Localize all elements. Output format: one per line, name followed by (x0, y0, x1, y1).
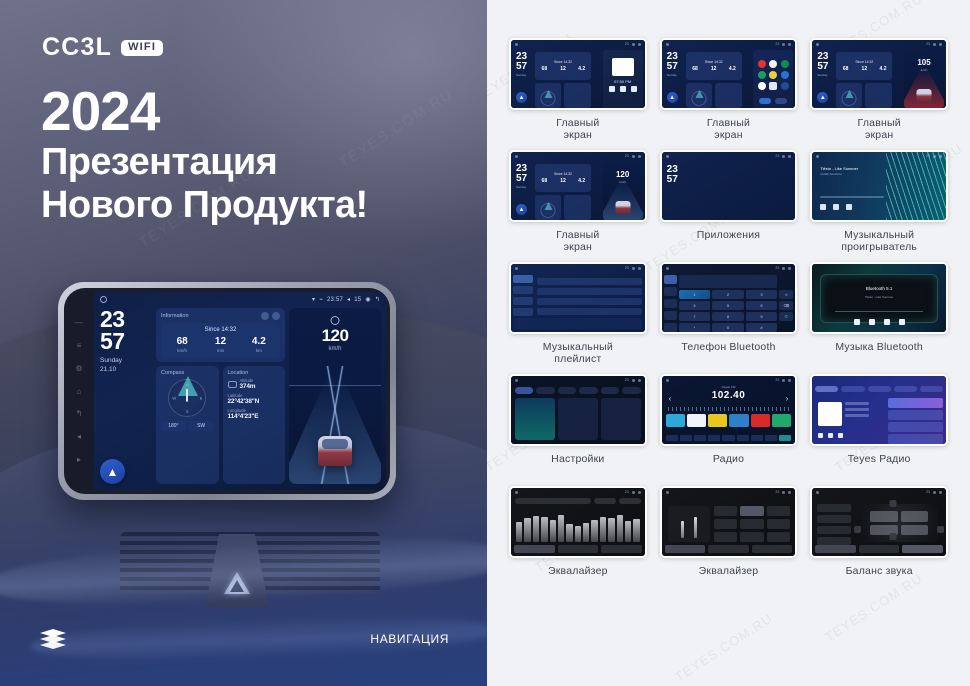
refresh-icon[interactable] (261, 312, 269, 320)
latitude-row: Latitude 22°42'38"N (228, 393, 281, 405)
screenshot-thumbnail[interactable]: 23 2357Sunday Since 14:32 68124.2 (509, 38, 647, 110)
tab-display (558, 387, 576, 394)
app-icon (758, 71, 766, 79)
search-icon (664, 299, 677, 308)
equalizer-presets[interactable] (515, 498, 641, 504)
compass-direction: SW (189, 421, 214, 431)
home-icon (515, 43, 518, 46)
tab-eq (514, 545, 555, 553)
playback-controls[interactable] (820, 204, 852, 210)
logo-wifi-badge: WIFI (121, 40, 163, 56)
balance-right-button[interactable] (937, 526, 944, 533)
mini-driving-view: 105 km/h (904, 50, 944, 108)
gallery-caption: Главныйэкран (858, 117, 901, 142)
gallery-caption: Баланс звука (846, 565, 913, 590)
call-log-icon (664, 311, 677, 320)
balance-presets[interactable] (817, 504, 851, 548)
next-station-icon[interactable]: › (786, 394, 789, 403)
gallery-item[interactable]: 23 123 456 789 *0# ☆⌫✆ Т (660, 262, 798, 366)
clock-hours: 23 (100, 308, 152, 330)
stat-unit: km/h (163, 348, 201, 353)
compass-needle (186, 389, 188, 402)
trip-stats: 68 km/h 12 min 4.2 (163, 336, 278, 353)
dial-key: 6 (746, 301, 778, 310)
gallery-item[interactable]: 23 2357 (660, 150, 798, 254)
dual-sliders[interactable] (668, 506, 710, 542)
headline-year: 2024 (41, 84, 368, 139)
gallery-caption: Главныйэкран (707, 117, 750, 142)
screenshot-thumbnail[interactable]: 23 Tiësto - Like Summer Collab Sessions (810, 150, 948, 222)
bluetooth-card: Bluetooth 5.1 Tiësto - Like Summer (820, 274, 938, 323)
mini-clock: 2357Sunday (516, 52, 527, 78)
home-button[interactable]: ⌂ (75, 387, 84, 396)
bluetooth-track: Tiësto - Like Summer (821, 295, 937, 300)
gallery-item[interactable]: 23 Радио FM 102.40 ‹ › (660, 374, 798, 478)
gallery-caption: Эквалайзер (548, 565, 608, 590)
gallery-item[interactable]: 23 Эквалайзер (660, 486, 798, 590)
mini-location-card (564, 83, 591, 108)
gallery-item[interactable]: Teyes Радио (810, 374, 948, 478)
station-list[interactable] (888, 398, 943, 446)
gear-icon[interactable]: ◉ (365, 296, 370, 303)
tab-wifi (515, 387, 533, 394)
dial-key: 3 (746, 290, 778, 299)
gallery-caption: Teyes Радио (848, 453, 911, 478)
track-meta (845, 402, 869, 420)
app-grid[interactable] (684, 163, 793, 171)
screenshot-thumbnail[interactable]: 23 (509, 374, 647, 446)
app-icon (758, 60, 766, 68)
gallery-grid: 23 2357Sunday Since 14:32 68124.2 (509, 38, 948, 590)
balance-pad[interactable] (860, 504, 938, 542)
information-body: Since 14:32 68 km/h 12 min (161, 323, 280, 358)
bluetooth-name: Bluetooth 5.1 (821, 286, 937, 291)
equalizer-sliders[interactable] (516, 506, 640, 542)
play-store-icon (758, 82, 766, 90)
screenshot-thumbnail[interactable]: Bluetooth 5.1 Tiësto - Like Summer (810, 262, 948, 334)
mini-driving-view: 120 km/h (603, 162, 643, 220)
prev-icon (854, 319, 860, 325)
app-icon (769, 60, 777, 68)
prev-icon (818, 433, 823, 438)
phone-sidebar[interactable] (664, 275, 677, 329)
gear-icon (632, 43, 635, 46)
speed-limit-icon (331, 316, 340, 325)
mini-compass-card (535, 83, 561, 108)
settings-tabs[interactable] (515, 387, 641, 394)
preset (729, 414, 748, 427)
lower-widgets-row: Compass N E S W (156, 366, 285, 484)
screenshot-thumbnail[interactable]: 23 (660, 486, 798, 558)
back-arrow-icon (638, 43, 641, 46)
gallery-item[interactable]: 23 Баланс звука (810, 486, 948, 590)
compass-dial: N E S W (168, 379, 206, 417)
location-card[interactable]: Location Altitude 374m (223, 366, 286, 484)
stat-unit: min (201, 348, 239, 353)
radio-toolbar[interactable] (666, 435, 792, 441)
tab-eq (665, 545, 706, 553)
gallery-caption: Эквалайзер (699, 565, 759, 590)
playback-controls[interactable] (818, 433, 843, 438)
bluetooth-music-mini: Bluetooth 5.1 Tiësto - Like Summer (812, 264, 946, 332)
gallery-caption: Музыка Bluetooth (835, 341, 923, 366)
speaker-fr (901, 511, 928, 522)
gallery-item[interactable]: 23 2357Sunday Since 14:3268124.2 120 km/… (509, 150, 647, 254)
mini-app-shortcuts (753, 50, 793, 108)
head-unit-frame: — ≡ ⚙ ⌂ ↰ ◂ ▸ ▾ ⌁ 23:57 ◂ (64, 288, 390, 494)
tab-balance (708, 545, 749, 553)
compass-east-label: E (200, 396, 203, 401)
navigation-arrow-icon: ▲ (516, 92, 527, 103)
information-card-header: Information (161, 312, 280, 320)
screenshot-thumbnail[interactable]: 23 (509, 262, 647, 334)
now-playing-bar[interactable] (514, 318, 642, 329)
next-icon (899, 319, 905, 325)
gallery-item[interactable]: 23 Эквалайзер (509, 486, 647, 590)
star-icon: ☆ (779, 290, 793, 299)
speed-unit: km/h (289, 346, 381, 352)
compass-south-label: S (186, 409, 189, 414)
tab-eq (815, 545, 856, 553)
screen-body: 23 57 Sunday 21.10 ▲ Information (94, 307, 386, 490)
app-icon (769, 71, 777, 79)
latitude-value: 22°42'38"N (228, 398, 281, 405)
preset (687, 414, 706, 427)
compass-west-label: W (172, 396, 176, 401)
apps-screen-mini: 23 2357 (662, 152, 796, 220)
clock-date: 21.10 (100, 366, 152, 375)
gear-icon (664, 323, 677, 332)
next-icon (631, 86, 637, 92)
status-time: 23:57 (327, 297, 343, 303)
mini-since: Since 14:32 (535, 60, 591, 64)
gallery-caption: Музыкальныйпроигрыватель (841, 229, 917, 254)
next-icon[interactable] (846, 204, 852, 210)
screenshot-thumbnail[interactable]: 23 Радио FM 102.40 ‹ › (660, 374, 798, 446)
dial-key: 2 (712, 290, 744, 299)
hardware-button-strip[interactable]: — ≡ ⚙ ⌂ ↰ ◂ ▸ (64, 292, 94, 490)
dial-key: 0 (712, 323, 744, 332)
prev-icon (609, 86, 615, 92)
radio-band: Радио FM (662, 385, 796, 389)
presentation-slide: TEYES.COM.RU TEYES.COM.RU TEYES.COM.RU T… (0, 0, 970, 686)
layers-icon-bottom (40, 641, 66, 649)
screenshot-thumbnail[interactable]: 23 123 456 789 *0# ☆⌫✆ (660, 262, 798, 334)
dial-key: 8 (712, 312, 744, 321)
dial-key: 4 (679, 301, 711, 310)
head-unit-device: — ≡ ⚙ ⌂ ↰ ◂ ▸ ▾ ⌁ 23:57 ◂ (58, 282, 396, 500)
prev-station-icon[interactable]: ‹ (669, 394, 672, 403)
dialpad-icon (664, 275, 677, 284)
dial-key: 9 (746, 312, 778, 321)
preset (708, 414, 727, 427)
play-pause-icon (869, 319, 875, 325)
compass-card[interactable]: Compass N E S W (156, 366, 219, 484)
album-art (818, 402, 842, 426)
back-button[interactable]: ↰ (75, 409, 84, 418)
altitude-row: Altitude 374m (228, 378, 281, 390)
pause-icon[interactable] (833, 204, 839, 210)
tab-balance (859, 545, 900, 553)
dial-key: 1 (679, 290, 711, 299)
screenshot-thumbnail[interactable] (810, 374, 948, 446)
gallery-caption: Главныйэкран (556, 117, 599, 142)
tab-sound (752, 545, 793, 553)
mini-time: 23 (625, 42, 629, 46)
music-player-mini: 23 Tiësto - Like Summer Collab Sessions (812, 152, 946, 220)
player-time: 07:50 PM (603, 79, 643, 84)
track-artist: Collab Sessions (820, 172, 842, 176)
preset (666, 414, 685, 427)
back-arrow-icon[interactable]: ↰ (375, 296, 380, 303)
stat-duration: 12 min (201, 336, 239, 353)
dial-key: 5 (712, 301, 744, 310)
clock-widget[interactable]: 23 57 Sunday 21.10 ▲ (100, 308, 152, 484)
progress-bar[interactable] (835, 311, 923, 312)
call-icon: ✆ (779, 312, 793, 321)
road-edge-lines (289, 366, 381, 484)
dial-key: * (679, 323, 711, 332)
teyes-tabs[interactable] (815, 386, 943, 392)
navigation-arrow-icon[interactable]: ▲ (100, 459, 125, 484)
screenshot-thumbnail[interactable]: 23 (509, 486, 647, 558)
screenshot-gallery-panel: TEYES.COM.RU TEYES.COM.RU TEYES.COM.RU T… (487, 0, 970, 686)
stat-unit: km (240, 348, 278, 353)
track-title: Tiësto - Like Summer (820, 166, 858, 171)
dial-key: 7 (679, 312, 711, 321)
home-screen-mini: 23 2357Sunday Since 14:3268124.2 105 km/… (812, 40, 946, 108)
gallery-item[interactable]: 23 Tiësto - Like Summer Collab Sessions … (810, 150, 948, 254)
gallery-item[interactable]: 23 2357Sunday Since 14:3268124.2 105 km/… (810, 38, 948, 142)
tab-system (579, 387, 597, 394)
app-icon (781, 60, 789, 68)
tab-sound (536, 387, 554, 394)
screenshot-thumbnail[interactable]: 23 2357Sunday Since 14:3268124.2 120 km/… (509, 150, 647, 222)
information-card[interactable]: Information Since 14:32 (156, 308, 285, 362)
grid-icon (769, 82, 777, 90)
sound-balance-mini: 23 (812, 488, 946, 556)
more-icon (601, 398, 641, 440)
gallery-caption: Настройки (551, 453, 604, 478)
frequency-scale[interactable] (668, 407, 790, 411)
volume-up-button[interactable]: ▸ (75, 455, 84, 464)
visualizer-graphic (886, 152, 946, 220)
gallery-caption: Главныйэкран (556, 229, 599, 254)
stat-value: 4.2 (240, 336, 278, 347)
screenshot-thumbnail[interactable]: 23 2357Sunday Since 14:3268124.2 (660, 38, 798, 110)
clock-weekday: Sunday (100, 357, 152, 366)
number-display (679, 275, 778, 288)
compass-north-label: N (186, 382, 189, 387)
product-logo: CC3L WIFI (42, 33, 163, 62)
wifi-icon: ▾ (312, 296, 315, 303)
headline-line-2: Нового Продукта! (41, 184, 368, 227)
teyes-radio-mini (812, 376, 946, 444)
headline-line-1: Презентация (41, 141, 368, 184)
since-label: Since 14:32 (163, 327, 278, 333)
balance-left-button[interactable] (854, 526, 861, 533)
navigation-label: НАВИГАЦИЯ (370, 632, 449, 646)
compass-heading: 180° (161, 421, 186, 431)
sound-mode-buttons[interactable] (714, 506, 791, 542)
stop-icon (828, 433, 833, 438)
speed-value: 120 (289, 326, 381, 346)
home-screen-mini: 23 2357Sunday Since 14:3268124.2 120 km/… (511, 152, 645, 220)
prev-icon[interactable] (820, 204, 826, 210)
balance-down-button[interactable] (890, 533, 897, 540)
home-screen-mini: 23 2357Sunday Since 14:32 68124.2 (511, 40, 645, 108)
tab-balance (558, 545, 599, 553)
volume-down-button[interactable]: ◂ (75, 432, 84, 441)
card-actions[interactable] (261, 312, 280, 320)
longitude-row: Longitude 114°4'23"E (228, 408, 281, 420)
mini-information-card: Since 14:32 68124.2 (535, 52, 591, 80)
stop-icon (884, 319, 890, 325)
hero-panel: TEYES.COM.RU TEYES.COM.RU TEYES.COM.RU T… (0, 0, 487, 686)
driving-view-card[interactable]: 120 km/h (289, 308, 381, 484)
radio-frequency: 102.40 (662, 390, 796, 401)
screenshot-thumbnail[interactable]: 23 2357 (660, 150, 798, 222)
equalizer-advanced-mini: 23 (662, 488, 796, 556)
mini-status-bar: 23 (511, 40, 645, 48)
expand-icon[interactable] (272, 312, 280, 320)
home-screen-mini: 23 2357Sunday Since 14:3268124.2 (662, 40, 796, 108)
tab-more (622, 387, 640, 394)
dial-key: # (746, 323, 778, 332)
wifi-icon (515, 398, 555, 440)
tab-about (601, 387, 619, 394)
speaker-rr (901, 525, 928, 536)
equalizer-tabs[interactable] (665, 545, 793, 553)
settings-tiles[interactable] (515, 398, 641, 440)
selected-mode (740, 506, 764, 516)
mini-music-player: 07:50 PM (603, 50, 643, 108)
widgets-column: Information Since 14:32 (156, 308, 285, 484)
car-graphic (318, 436, 352, 466)
power-button[interactable]: — (75, 318, 84, 327)
next-icon (838, 433, 843, 438)
wifi-icon: ⌁ (319, 296, 323, 303)
equalizer-tabs[interactable] (514, 545, 642, 553)
information-title: Information (161, 313, 189, 319)
mute-button[interactable]: ≡ (75, 341, 84, 350)
head-unit-screen[interactable]: ▾ ⌁ 23:57 ◂ 15 ◉ ↰ 23 57 Sunday (94, 292, 386, 490)
volume-level: 15 (354, 297, 361, 303)
preset (772, 414, 791, 427)
screenshot-thumbnail[interactable]: 23 2357Sunday Since 14:3268124.2 105 km/… (810, 38, 948, 110)
watermark: TEYES.COM.RU (672, 610, 775, 684)
equalizer-mini: 23 (511, 488, 645, 556)
gallery-item[interactable]: 23 2357Sunday Since 14:32 68124.2 (509, 38, 647, 142)
clock-minutes: 57 (100, 330, 152, 352)
gallery-item[interactable]: 23 Музыкальныйплейлист (509, 262, 647, 366)
dialpad[interactable]: 123 456 789 *0# (679, 290, 778, 332)
pause-icon (620, 86, 626, 92)
longitude-value: 114°4'23"E (228, 413, 281, 420)
screenshot-thumbnail[interactable]: 23 (810, 486, 948, 558)
layers-icon[interactable] (40, 629, 66, 649)
mini-speed-value: 120 (603, 170, 643, 179)
album-art (612, 58, 634, 76)
preset (751, 414, 770, 427)
tab-sound (601, 545, 642, 553)
stat-value: 12 (201, 336, 239, 347)
tab-sound (902, 545, 943, 553)
gallery-item[interactable]: 23 Настройки (509, 374, 647, 478)
bluetooth-phone-mini: 23 123 456 789 *0# ☆⌫✆ (662, 264, 796, 332)
stat-avg-speed: 68 km/h (163, 336, 201, 353)
backspace-icon: ⌫ (779, 301, 793, 310)
playlist-rows[interactable] (537, 278, 642, 318)
radio-presets[interactable] (666, 414, 792, 427)
gallery-item[interactable]: Bluetooth 5.1 Tiësto - Like Summer Музык… (810, 262, 948, 366)
page-title: 2024 Презентация Нового Продукта! (41, 84, 368, 227)
gallery-caption: Телефон Bluetooth (681, 341, 775, 366)
settings-mini: 23 (511, 376, 645, 444)
gear-button[interactable]: ⚙ (75, 364, 84, 373)
gallery-caption: Музыкальныйплейлист (543, 341, 613, 366)
balance-up-button[interactable] (890, 500, 897, 507)
stat-value: 68 (163, 336, 201, 347)
hotspot-icon (558, 398, 598, 440)
phone-actions[interactable]: ☆⌫✆ (779, 290, 793, 323)
mini-speed-value: 105 (904, 58, 944, 67)
contacts-icon (664, 287, 677, 296)
speaker-fl (870, 511, 897, 522)
status-bar: ▾ ⌁ 23:57 ◂ 15 ◉ ↰ (94, 292, 386, 307)
gallery-caption: Приложения (697, 229, 760, 254)
gallery-caption: Радио (713, 453, 744, 478)
mountain-icon (228, 381, 237, 388)
stat-distance: 4.2 km (240, 336, 278, 353)
radio-mini: 23 Радио FM 102.40 ‹ › (662, 376, 796, 444)
home-icon[interactable] (100, 296, 107, 303)
gallery-item[interactable]: 23 2357Sunday Since 14:3268124.2 (660, 38, 798, 142)
altitude-value: 374m (240, 383, 256, 390)
volume-icon[interactable]: ◂ (347, 296, 350, 303)
playback-controls[interactable] (821, 319, 937, 325)
app-icon (781, 71, 789, 79)
balance-tabs[interactable] (815, 545, 943, 553)
location-title: Location (228, 370, 281, 376)
logo-model-text: CC3L (42, 33, 112, 62)
progress-bar[interactable] (820, 196, 884, 198)
compass-readout: 180° SW (161, 421, 214, 431)
app-icon (781, 82, 789, 90)
playlist-mini: 23 (511, 264, 645, 332)
